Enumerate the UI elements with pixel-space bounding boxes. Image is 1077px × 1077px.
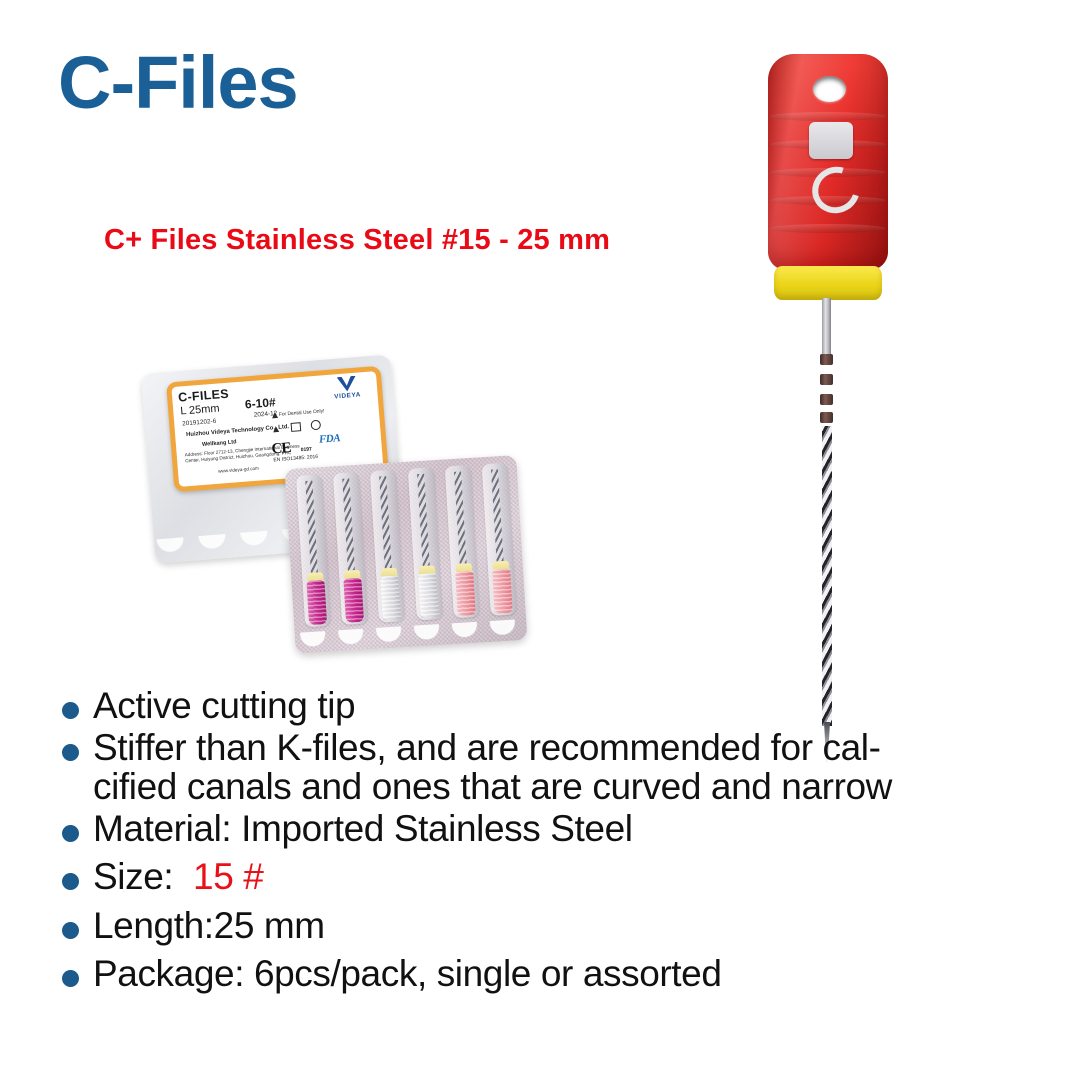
file-handle (768, 54, 888, 270)
list-item-size: Size: 15 # (62, 857, 1002, 897)
bullet-dot-icon (62, 970, 79, 987)
label-ec-rep: Wellkang Ltd (202, 439, 237, 448)
file-tube (333, 472, 368, 625)
file-tube (407, 467, 442, 620)
size-value: 15 # (193, 856, 263, 897)
fda-mark: FDA (319, 432, 341, 446)
bullet-dot-icon (62, 873, 79, 890)
depth-marker-rings (820, 354, 833, 426)
list-item: Length:25 mm (62, 906, 1002, 946)
bullet-dot-icon (62, 702, 79, 719)
label-use-note: For Dental Use Only! (279, 409, 325, 418)
label-lot-number: 20191202-6 (182, 418, 216, 428)
do-not-reuse-icon (310, 420, 321, 431)
silicone-id-plate-icon (809, 122, 853, 159)
warning-triangle-icon (272, 412, 278, 418)
feature-list: Active cutting tip Stiffer than K-files,… (62, 686, 1002, 996)
page-title: C-Files (58, 46, 298, 120)
file-tube (370, 469, 405, 622)
file-shank (822, 298, 831, 360)
c-file-instrument-illustration (754, 54, 924, 734)
file-cutting-flutes (822, 426, 832, 726)
bullet-dot-icon (62, 825, 79, 842)
file-collar (774, 266, 882, 300)
brand-logo: VIDEYA (326, 375, 368, 404)
caution-triangle-icon (273, 426, 279, 432)
feature-text: Size: 15 # (93, 857, 263, 897)
suspension-hole-icon (813, 76, 846, 102)
size-label: Size: (93, 856, 193, 897)
label-product-name: C-FILES (178, 387, 230, 405)
feature-text: Active cutting tip (93, 686, 355, 726)
label-website: www.videya-gd.com (218, 466, 259, 474)
label-length: L 25mm (180, 403, 220, 418)
feature-text: Stiffer than K-files, and are recommende… (93, 728, 892, 807)
file-tube-row (296, 463, 517, 631)
product-subtitle: C+ Files Stainless Steel #15 - 25 mm (104, 224, 610, 257)
ce-number: 0197 (301, 446, 313, 453)
product-sheet: C-Files C+ Files Stainless Steel #15 - 2… (0, 0, 1077, 1077)
product-packaging-photo: VIDEYA C-FILES L 25mm 6-10# 20191202-6 2… (148, 358, 538, 658)
list-item: Material: Imported Stainless Steel (62, 809, 1002, 849)
feature-text: Package: 6pcs/pack, single or assorted (93, 954, 722, 994)
feature-text: Material: Imported Stainless Steel (93, 809, 633, 849)
file-tube (444, 465, 479, 618)
consult-ifu-icon (291, 422, 302, 432)
label-size-range: 6-10# (244, 395, 276, 411)
videya-logo-icon (337, 376, 357, 392)
list-item: Package: 6pcs/pack, single or assorted (62, 954, 1002, 994)
list-item: Active cutting tip (62, 686, 1002, 726)
bullet-dot-icon (62, 922, 79, 939)
list-item: Stiffer than K-files, and are recommende… (62, 728, 1002, 807)
feature-text: Length:25 mm (93, 906, 325, 946)
brand-name: VIDEYA (327, 391, 367, 401)
bullet-dot-icon (62, 744, 79, 761)
blister-pack-front (285, 455, 528, 654)
